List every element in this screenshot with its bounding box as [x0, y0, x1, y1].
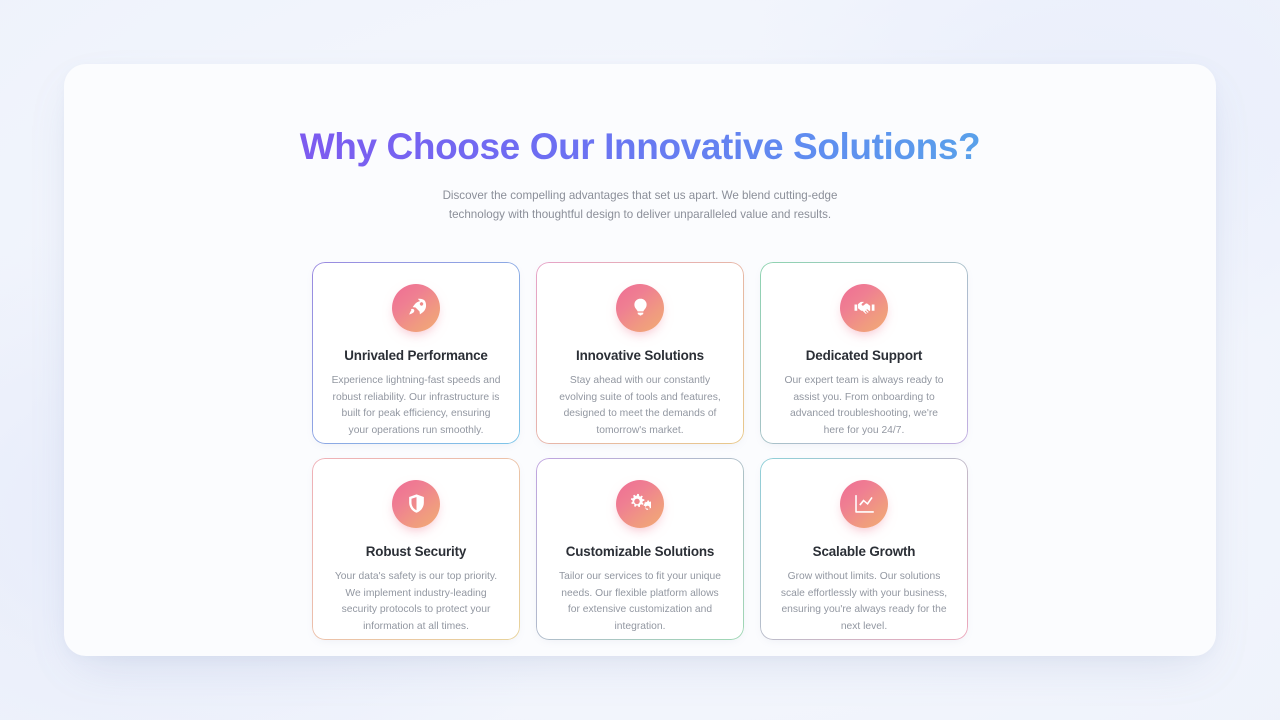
feature-icon-badge [616, 284, 664, 332]
feature-card[interactable]: Scalable GrowthGrow without limits. Our … [760, 458, 968, 640]
feature-card-description: Stay ahead with our constantly evolving … [551, 373, 729, 440]
feature-card[interactable]: Innovative SolutionsStay ahead with our … [536, 262, 744, 444]
feature-card-title: Robust Security [327, 544, 505, 559]
feature-icon-badge [392, 480, 440, 528]
page-heading-section: Why Choose Our Innovative Solutions? Dis… [64, 125, 1216, 225]
feature-card[interactable]: Unrivaled PerformanceExperience lightnin… [312, 262, 520, 444]
feature-card-description: Experience lightning-fast speeds and rob… [327, 373, 505, 440]
feature-card[interactable]: Dedicated SupportOur expert team is alwa… [760, 262, 968, 444]
content-panel: Why Choose Our Innovative Solutions? Dis… [64, 64, 1216, 656]
feature-card-description: Our expert team is always ready to assis… [775, 373, 953, 440]
feature-icon-badge [392, 284, 440, 332]
page-subtitle: Discover the compelling advantages that … [430, 187, 850, 225]
handshake-icon [854, 297, 875, 318]
shield-icon [406, 493, 427, 514]
feature-card-description: Grow without limits. Our solutions scale… [775, 569, 953, 636]
chart-line-icon [854, 493, 875, 514]
feature-icon-badge [840, 480, 888, 528]
page-title: Why Choose Our Innovative Solutions? [64, 125, 1216, 169]
feature-card[interactable]: Robust SecurityYour data's safety is our… [312, 458, 520, 640]
feature-card-title: Dedicated Support [775, 348, 953, 363]
lightbulb-icon [630, 297, 651, 318]
feature-icon-badge [616, 480, 664, 528]
feature-card-description: Your data's safety is our top priority. … [327, 569, 505, 636]
feature-card-title: Unrivaled Performance [327, 348, 505, 363]
feature-card-title: Customizable Solutions [551, 544, 729, 559]
feature-card-title: Innovative Solutions [551, 348, 729, 363]
feature-card-description: Tailor our services to fit your unique n… [551, 569, 729, 636]
rocket-icon [406, 297, 427, 318]
feature-card-grid: Unrivaled PerformanceExperience lightnin… [312, 262, 968, 640]
gears-icon [630, 493, 651, 514]
feature-card-title: Scalable Growth [775, 544, 953, 559]
feature-card[interactable]: Customizable SolutionsTailor our service… [536, 458, 744, 640]
feature-icon-badge [840, 284, 888, 332]
